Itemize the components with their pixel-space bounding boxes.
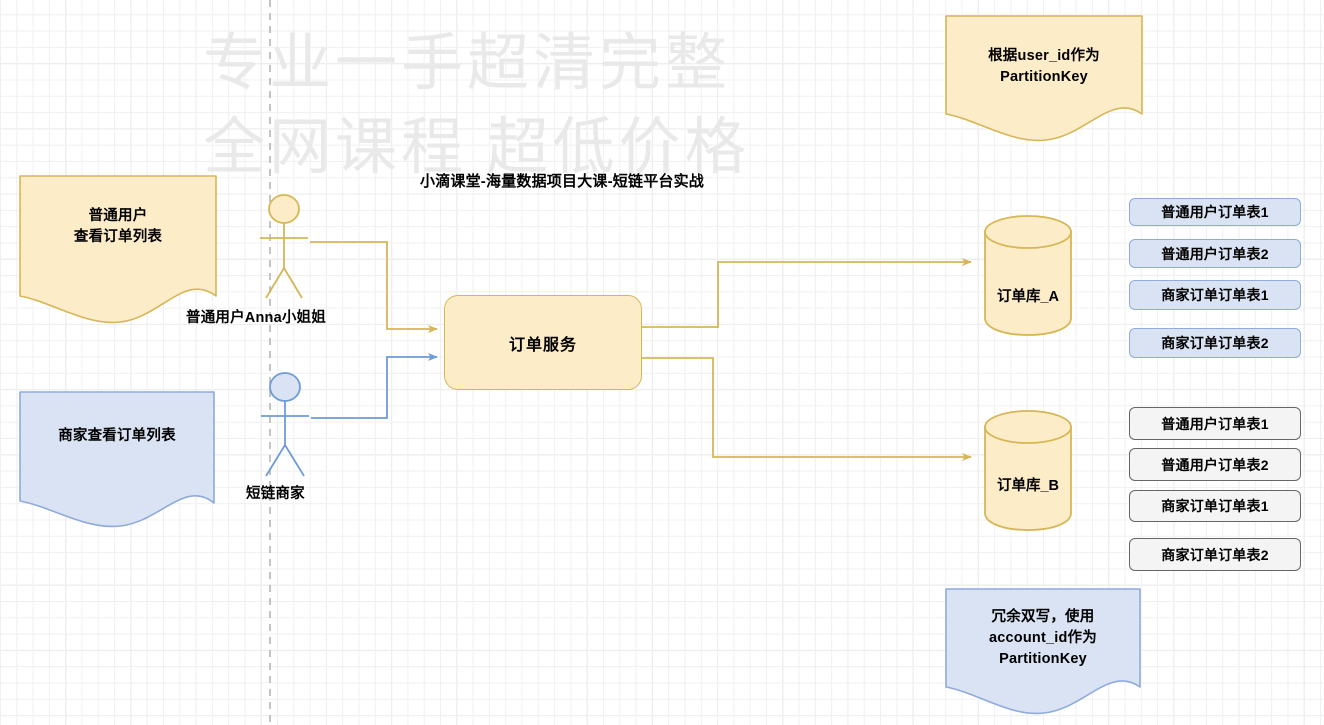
page-title: 小滴课堂-海量数据项目大课-短链平台实战	[420, 170, 704, 191]
database-b-shape	[985, 411, 1071, 530]
table-box-b-1[interactable]: 普通用户订单表1	[1129, 407, 1301, 440]
note-user-view-orders: 普通用户 查看订单列表	[20, 176, 216, 322]
note-merchant-view-orders: 商家查看订单列表	[20, 392, 214, 526]
database-a-label: 订单库_A	[985, 285, 1071, 306]
table-box-a-2[interactable]: 普通用户订单表2	[1129, 239, 1301, 268]
edge-anna-to-order-service	[310, 242, 437, 329]
note-partition-key-account-line-2: account_id作为	[946, 628, 1140, 649]
table-box-b-4[interactable]: 商家订单订单表2	[1129, 538, 1301, 571]
note-user-view-orders-line-2: 查看订单列表	[20, 227, 216, 248]
table-box-a-1[interactable]: 普通用户订单表1	[1129, 198, 1301, 226]
note-merchant-view-orders-line-1: 商家查看订单列表	[20, 426, 214, 447]
note-partition-key-user-line-2: PartitionKey	[946, 67, 1142, 88]
note-partition-key-account-line-1: 冗余双写，使用	[946, 607, 1140, 628]
actor-merchant-figure	[261, 373, 309, 476]
database-a-shape	[985, 216, 1071, 335]
edge-merchant-to-order-service	[311, 357, 437, 418]
table-box-a-4[interactable]: 商家订单订单表2	[1129, 328, 1301, 358]
note-partition-key-user: 根据user_id作为 PartitionKey	[946, 16, 1142, 140]
database-b-label: 订单库_B	[985, 474, 1071, 495]
note-partition-key-account: 冗余双写，使用 account_id作为 PartitionKey	[946, 589, 1140, 717]
actor-label-merchant: 短链商家	[246, 482, 305, 503]
note-user-view-orders-line-1: 普通用户	[20, 206, 216, 227]
note-partition-key-account-line-3: PartitionKey	[946, 649, 1140, 670]
note-partition-key-user-line-1: 根据user_id作为	[946, 46, 1142, 67]
table-box-b-2[interactable]: 普通用户订单表2	[1129, 448, 1301, 481]
edge-service-to-db-a	[642, 262, 971, 327]
diagram-canvas: 专业一手超清完整 全网课程 超低价格	[0, 0, 1324, 725]
actor-anna-figure	[260, 195, 308, 298]
actor-label-anna: 普通用户Anna小姐姐	[186, 306, 326, 327]
order-service-box[interactable]: 订单服务	[444, 295, 642, 390]
table-box-a-3[interactable]: 商家订单订单表1	[1129, 280, 1301, 310]
edge-service-to-db-b	[642, 358, 971, 457]
table-box-b-3[interactable]: 商家订单订单表1	[1129, 490, 1301, 522]
